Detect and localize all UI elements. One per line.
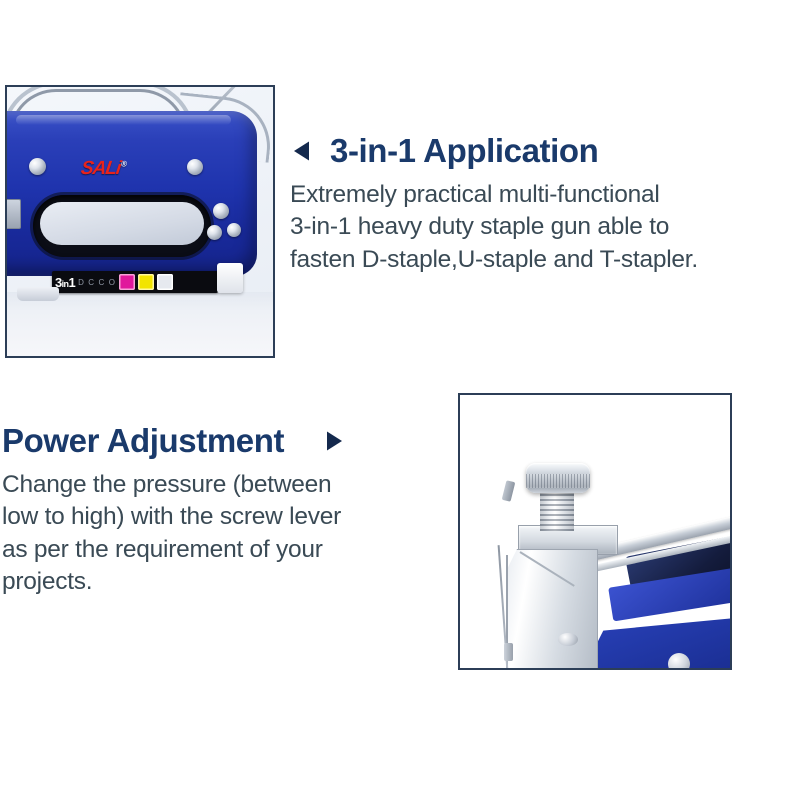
bracket-body bbox=[506, 549, 598, 668]
staple-gun-image: SALi® 3in1 D C C O bbox=[7, 87, 273, 356]
rivet bbox=[558, 633, 578, 646]
clip-pin-bottom bbox=[504, 643, 513, 661]
photo-surface bbox=[7, 292, 273, 356]
description-line: Extremely practical multi-functional bbox=[290, 179, 798, 212]
screw-lever-image bbox=[460, 395, 730, 668]
feature-title-power-adjustment: Power Adjustment bbox=[2, 424, 284, 459]
description-line: as per the requirement of your bbox=[2, 534, 438, 567]
brand-trademark-mark: ® bbox=[120, 160, 126, 169]
rivet bbox=[227, 223, 241, 237]
feature-block-power-adjustment: Power Adjustment Change the pressure (be… bbox=[2, 424, 438, 599]
right-arrow-icon bbox=[320, 428, 346, 454]
description-line: 3-in-1 heavy duty staple gun able to bbox=[290, 211, 798, 244]
staple-gun-body: SALi® 3in1 D C C O bbox=[7, 111, 257, 276]
rivet bbox=[207, 225, 222, 240]
staple-gun-handle-opening bbox=[33, 195, 211, 257]
nose-block bbox=[217, 263, 243, 293]
staple-type-chip-magenta-icon bbox=[119, 274, 135, 290]
staple-type-chip-yellow-icon bbox=[138, 274, 154, 290]
feature-heading-row: Power Adjustment bbox=[2, 424, 438, 459]
description-line: projects. bbox=[2, 566, 438, 599]
description-line: low to high) with the screw lever bbox=[2, 501, 438, 534]
rivet bbox=[187, 159, 203, 175]
rivet bbox=[29, 158, 46, 175]
product-photo-panel-staple-gun: SALi® 3in1 D C C O bbox=[5, 85, 275, 358]
knob-knurling bbox=[526, 474, 590, 488]
feature-block-three-in-one: 3-in-1 Application Extremely practical m… bbox=[290, 134, 798, 276]
rivet bbox=[213, 203, 229, 219]
brand-logo: SALi® bbox=[79, 158, 126, 180]
product-photo-panel-screw-lever bbox=[458, 393, 732, 670]
brand-logo-text: SALi bbox=[80, 158, 122, 179]
label-code-text: D C C O bbox=[78, 278, 116, 287]
staple-type-chip-white-icon bbox=[157, 274, 173, 290]
spec-label-strip: 3in1 D C C O bbox=[52, 271, 218, 293]
screw-lever-threaded-shaft bbox=[540, 489, 574, 531]
feature-description-three-in-one: Extremely practical multi-functional 3-i… bbox=[290, 179, 798, 277]
infographic-page: SALi® 3in1 D C C O bbox=[0, 0, 800, 800]
base-foot bbox=[17, 287, 59, 301]
feature-description-power-adjustment: Change the pressure (between low to high… bbox=[2, 469, 438, 599]
description-line: fasten D-staple,U-staple and T-stapler. bbox=[290, 244, 798, 277]
rivet bbox=[668, 653, 690, 668]
side-plate bbox=[7, 199, 21, 229]
feature-heading-row: 3-in-1 Application bbox=[290, 134, 798, 169]
screw-threads bbox=[540, 489, 574, 531]
left-arrow-icon bbox=[290, 138, 316, 164]
feature-title-three-in-one: 3-in-1 Application bbox=[330, 134, 598, 169]
screw-lever-knob bbox=[526, 463, 590, 493]
description-line: Change the pressure (between bbox=[2, 469, 438, 502]
label-3in1-text: 3in1 bbox=[55, 276, 75, 289]
